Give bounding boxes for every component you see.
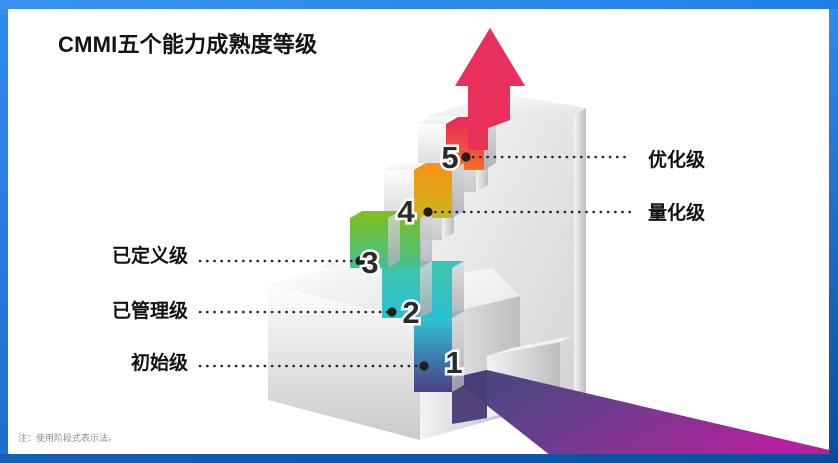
step-label-4: 量化级 xyxy=(648,198,705,225)
step-number-2: 2 xyxy=(402,295,419,330)
maturity-staircase-diagram: 5 4 3 2 1 xyxy=(0,0,838,463)
border-bottom xyxy=(0,454,838,463)
step-label-2: 已管理级 xyxy=(38,296,188,323)
connector-dot-1 xyxy=(419,361,428,370)
page-title: CMMI五个能力成熟度等级 xyxy=(58,27,317,59)
connector-dot-4 xyxy=(423,207,432,216)
step-label-1: 初始级 xyxy=(38,348,188,375)
border-top xyxy=(0,0,838,9)
step-number-4: 4 xyxy=(397,194,415,229)
step-number-5: 5 xyxy=(441,140,458,175)
footnote: 注：使用阶段式表示法。 xyxy=(18,431,117,444)
connector-dot-2 xyxy=(387,307,396,316)
slide-canvas: 5 4 3 2 1 CMMI五个能力成熟度等级 已定义级 已管理级 初始级 优化… xyxy=(0,0,838,463)
step-number-3: 3 xyxy=(361,245,378,280)
step-label-5: 优化级 xyxy=(648,145,705,172)
step-number-1: 1 xyxy=(445,345,462,380)
border-right xyxy=(829,9,838,454)
entry-ramp xyxy=(452,370,838,463)
step-label-3: 已定义级 xyxy=(38,241,188,268)
border-left xyxy=(0,9,8,454)
connector-dot-5 xyxy=(461,152,470,161)
